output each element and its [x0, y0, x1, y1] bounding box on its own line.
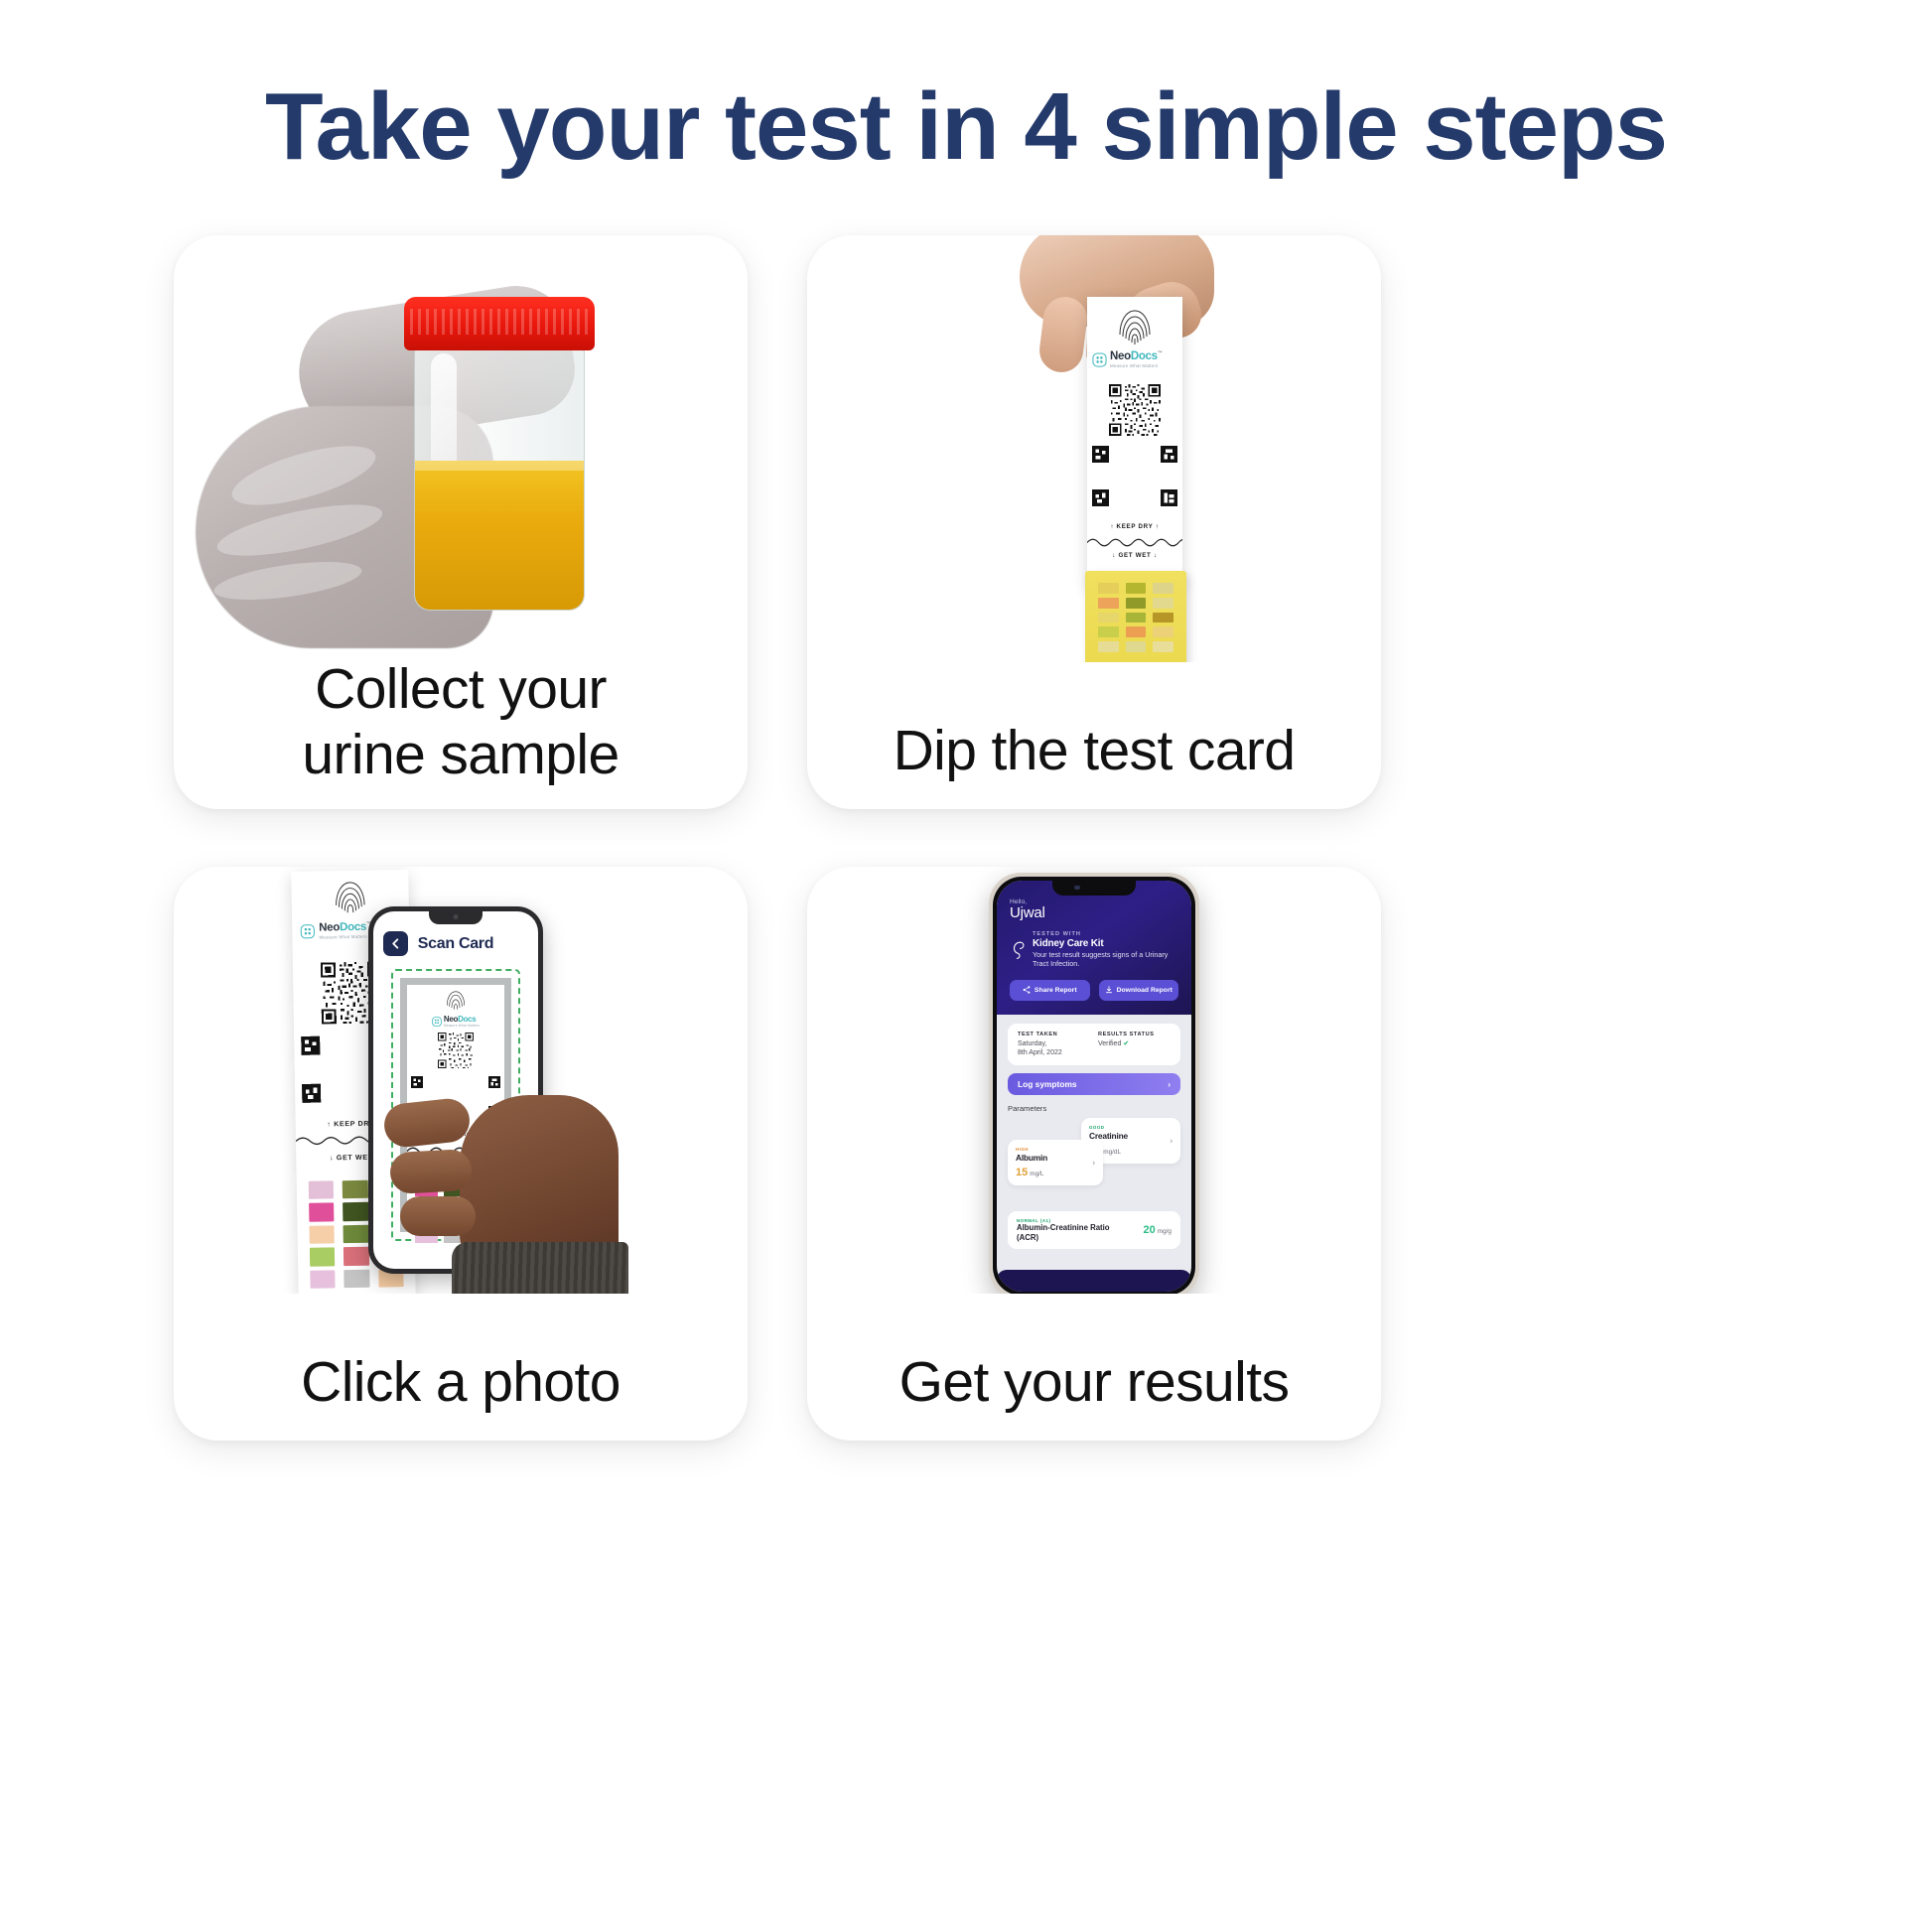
kit-description: Your test result suggests signs of a Uri…: [1033, 950, 1178, 969]
results-status-block: RESULTS STATUS Verified ✔: [1098, 1032, 1171, 1058]
page-title: Take your test in 4 simple steps: [0, 77, 1932, 178]
user-name: Ujwal: [1010, 905, 1178, 922]
neodocs-tagline: Measure What Matters: [444, 1025, 480, 1028]
results-status-value: Verified ✔: [1098, 1039, 1171, 1048]
fiducial-marker-icon: [1161, 446, 1177, 463]
neodocs-tagline: Measure What Matters: [1110, 364, 1162, 368]
chevron-right-icon: ›: [1170, 1137, 1173, 1146]
results-status-label: RESULTS STATUS: [1098, 1032, 1171, 1037]
chevron-right-icon: ›: [1092, 1159, 1095, 1168]
step-card-collect-sample[interactable]: Collect your urine sample: [174, 235, 748, 809]
scan-card-title: Scan Card: [373, 935, 538, 953]
step-1-caption-line-2: urine sample: [174, 722, 748, 787]
step-1-image: [174, 235, 748, 662]
fiducial-marker-icon: [411, 1076, 423, 1088]
wet-reagent-pad-area: [1085, 571, 1186, 662]
app-footer-bar: [997, 1270, 1191, 1292]
step-4-caption: Get your results: [807, 1349, 1381, 1415]
step-4-image: Hello, Ujwal TESTED WITH Kidney Care Kit: [807, 867, 1381, 1294]
download-report-label: Download Report: [1117, 987, 1173, 994]
fiducial-marker-icon: [1092, 446, 1109, 463]
parameter-tile-acr[interactable]: NORMAL (A1) Albumin-Creatinine Ratio (AC…: [1008, 1211, 1180, 1249]
step-3-image: NeoDocs™ Measure What Matters: [174, 867, 748, 1294]
parameter-tiles: GOOD Creatinine 75mg/dL › HIGH Album: [1008, 1118, 1180, 1205]
kit-name: Kidney Care Kit: [1033, 938, 1178, 949]
fingerprint-icon: [445, 988, 467, 1014]
log-symptoms-label: Log symptoms: [1018, 1079, 1077, 1089]
get-wet-label: ↓ GET WET ↓: [1087, 552, 1182, 559]
parameter-name-line-2: (ACR): [1017, 1233, 1110, 1242]
specimen-cup-icon: [410, 297, 589, 615]
test-taken-day: Saturday,: [1018, 1039, 1090, 1048]
hand-holding-phone-icon: [430, 1055, 628, 1294]
neodocs-tagline: Measure What Matters: [319, 934, 371, 939]
test-taken-block: TEST TAKEN Saturday, 8th April, 2022: [1018, 1032, 1090, 1058]
kidney-icon: [1010, 939, 1027, 961]
share-report-button[interactable]: Share Report: [1010, 980, 1090, 1001]
step-2-image: NeoDocs™ Measure What Matters: [807, 235, 1381, 662]
log-symptoms-button[interactable]: Log symptoms ›: [1008, 1073, 1180, 1095]
neodocs-mark-icon: [300, 924, 315, 939]
qr-code-icon: [1109, 384, 1161, 436]
parameter-unit: mg/L: [1030, 1171, 1043, 1177]
parameter-name: Creatinine: [1089, 1131, 1173, 1141]
step-2-caption: Dip the test card: [807, 718, 1381, 783]
parameter-name-line-1: Albumin-Creatinine Ratio: [1017, 1223, 1110, 1232]
parameter-tile-albumin[interactable]: HIGH Albumin 15mg/L ›: [1008, 1140, 1103, 1185]
status-badge: GOOD: [1089, 1125, 1173, 1130]
phone-notch: [429, 911, 483, 924]
parameters-label: Parameters: [1008, 1104, 1180, 1113]
share-icon: [1023, 986, 1031, 994]
fiducial-marker-icon: [1092, 489, 1109, 506]
test-taken-value: Saturday, 8th April, 2022: [1018, 1039, 1090, 1058]
test-taken-date: 8th April, 2022: [1018, 1048, 1090, 1057]
parameter-name: Albumin: [1016, 1153, 1095, 1163]
step-1-caption-line-1: Collect your: [174, 656, 748, 722]
neodocs-logo: NeoDocs™ Measure What Matters: [1092, 351, 1177, 368]
neodocs-logo: NeoDocs Measure What Matters: [413, 1016, 498, 1028]
sleeve-cuff: [452, 1242, 628, 1294]
wet-dry-divider: ↑ KEEP DRY ↑ ↓ GET WET ↓: [1087, 523, 1182, 565]
fiducial-marker-icon: [1161, 489, 1177, 506]
results-hero: Hello, Ujwal TESTED WITH Kidney Care Kit: [997, 881, 1191, 1015]
phone-notch: [1052, 881, 1136, 896]
test-info-card: TEST TAKEN Saturday, 8th April, 2022 RES…: [1008, 1024, 1180, 1066]
test-taken-label: TEST TAKEN: [1018, 1032, 1090, 1037]
parameter-unit: mg/g: [1158, 1228, 1172, 1235]
fingerprint-icon: [1116, 305, 1154, 348]
steps-grid: Collect your urine sample: [174, 235, 1758, 1844]
step-3-caption: Click a photo: [174, 1349, 748, 1415]
verified-check-icon: ✔: [1123, 1040, 1129, 1047]
chevron-right-icon: ›: [1168, 1079, 1171, 1089]
reagent-pad-grid: [1098, 583, 1173, 652]
fiducial-marker-icon: [301, 1036, 320, 1055]
results-phone[interactable]: Hello, Ujwal TESTED WITH Kidney Care Kit: [989, 873, 1199, 1294]
neodocs-mark-icon: [1092, 352, 1107, 367]
step-card-click-photo[interactable]: NeoDocs™ Measure What Matters: [174, 867, 748, 1441]
parameter-value: 15: [1016, 1167, 1028, 1178]
results-body: TEST TAKEN Saturday, 8th April, 2022 RES…: [997, 1015, 1191, 1250]
keep-dry-label: ↑ KEEP DRY ↑: [1087, 523, 1182, 530]
tested-with-label: TESTED WITH: [1033, 931, 1178, 937]
download-report-button[interactable]: Download Report: [1099, 980, 1179, 1001]
parameter-value: 20: [1144, 1224, 1156, 1236]
step-card-dip-test[interactable]: NeoDocs™ Measure What Matters: [807, 235, 1381, 809]
status-badge: HIGH: [1016, 1147, 1095, 1152]
step-card-get-results[interactable]: Hello, Ujwal TESTED WITH Kidney Care Kit: [807, 867, 1381, 1441]
verified-text: Verified: [1098, 1040, 1121, 1047]
download-icon: [1105, 986, 1113, 994]
fingerprint-icon: [332, 877, 368, 919]
neodocs-mark-icon: [432, 1017, 442, 1027]
wave-divider-icon: [1087, 536, 1182, 549]
step-1-caption: Collect your urine sample: [174, 656, 748, 787]
parameter-unit: mg/dL: [1103, 1149, 1121, 1156]
share-report-label: Share Report: [1035, 987, 1077, 994]
fiducial-marker-icon: [302, 1084, 321, 1103]
neodocs-test-card: NeoDocs™ Measure What Matters: [1087, 297, 1182, 587]
